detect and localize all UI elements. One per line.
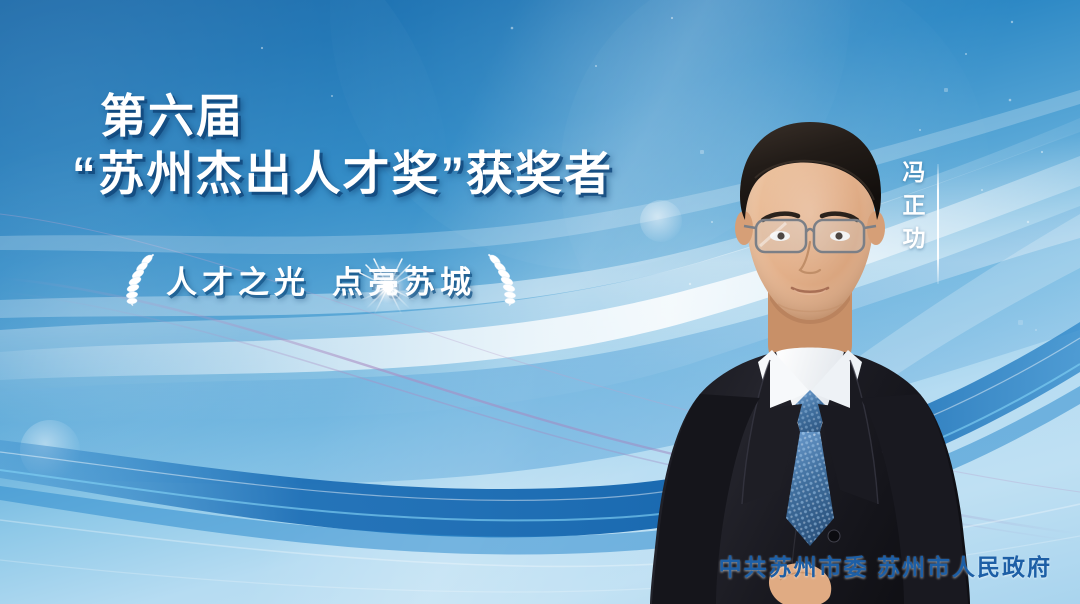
headline-line-1: 第六届 <box>72 88 692 144</box>
laurel-branch-right-icon <box>480 250 522 308</box>
footer-organizations: 中共苏州市委 苏州市人民政府 <box>0 548 1052 582</box>
subtitle-row: 人才之光 点亮苏城 <box>86 248 556 310</box>
vertical-rule <box>937 164 939 284</box>
subtitle-text: 人才之光 点亮苏城 <box>166 257 476 302</box>
page-title: 第六届 “苏州杰出人才奖”获奖者 <box>72 88 692 204</box>
laurel-branch-left-icon <box>120 250 162 308</box>
subtitle-right: 点亮苏城 <box>332 257 476 302</box>
honoree-name-block: 冯正功 <box>896 160 939 284</box>
award-poster: 第六届 “苏州杰出人才奖”获奖者 <box>0 0 1080 604</box>
honoree-name: 冯正功 <box>896 160 928 259</box>
headline-line-2: “苏州杰出人才奖”获奖者 <box>72 144 692 204</box>
subtitle-left: 人才之光 <box>166 257 310 302</box>
